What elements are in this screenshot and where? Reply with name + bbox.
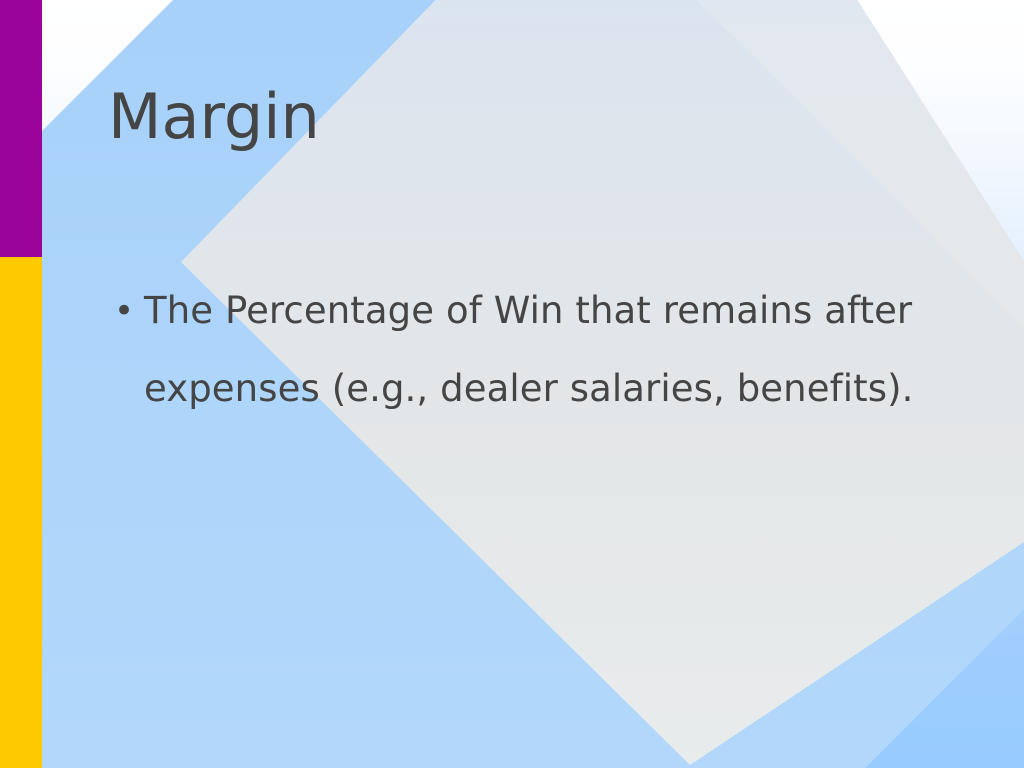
presentation-slide: Margin • The Percentage of Win that rema…: [0, 0, 1024, 768]
accent-bar-yellow: [0, 257, 42, 768]
slide-body: • The Percentage of Win that remains aft…: [100, 272, 970, 428]
bullet-list-item: • The Percentage of Win that remains aft…: [100, 272, 970, 428]
accent-bar-purple: [0, 0, 42, 257]
bullet-item-text: The Percentage of Win that remains after…: [144, 272, 970, 428]
bullet-point-icon: •: [100, 272, 144, 350]
slide-title: Margin: [108, 84, 968, 149]
